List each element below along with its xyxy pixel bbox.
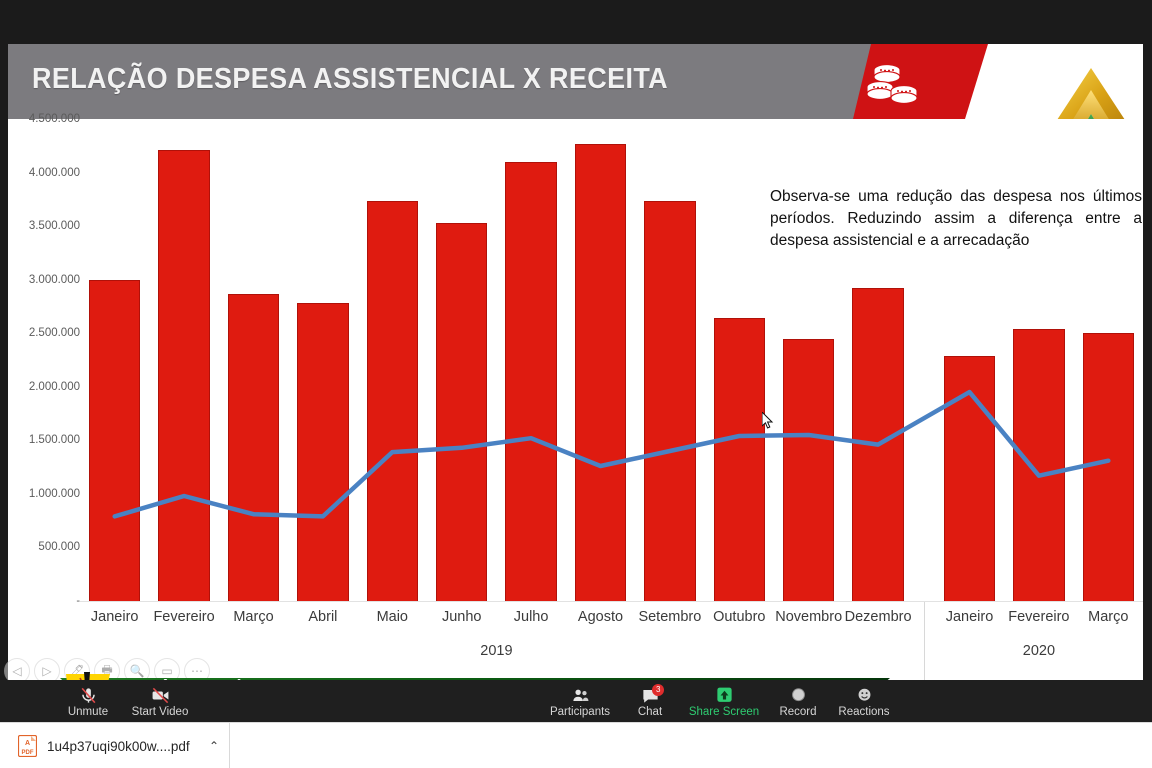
zoom-control-label: Start Video	[132, 706, 189, 718]
x-axis-year-label: 2019	[80, 643, 913, 659]
x-axis-label: Agosto	[566, 609, 635, 625]
bar-fevereiro	[158, 150, 209, 601]
smiley-face-icon	[809, 686, 919, 705]
x-axis-label: Março	[219, 609, 288, 625]
zoom-control-label: Unmute	[68, 706, 108, 718]
chevron-up-icon[interactable]: ⌃	[209, 739, 219, 753]
bar-janeiro	[89, 280, 140, 601]
zoom-control-bar: UnmuteStart VideoParticipants3ChatShare …	[0, 680, 1152, 722]
x-axis-label: Setembro	[635, 609, 704, 625]
bar-novembro	[783, 339, 834, 601]
y-axis-tick: 2.000.000	[14, 381, 80, 393]
bar-setembro	[644, 201, 695, 601]
bar-março	[228, 294, 279, 601]
x-axis-label: Janeiro	[935, 609, 1004, 625]
x-axis-label: Junho	[427, 609, 496, 625]
bar-março	[1083, 333, 1134, 601]
x-axis-label: Novembro	[774, 609, 843, 625]
start-video-button[interactable]: Start Video	[105, 686, 215, 718]
reactions-button[interactable]: Reactions	[809, 686, 919, 718]
bar-fevereiro	[1013, 329, 1064, 601]
slide-header: RELAÇÃO DESPESA ASSISTENCIAL X RECEITA	[8, 44, 1143, 119]
x-axis-label: Julho	[496, 609, 565, 625]
bar-abril	[297, 303, 348, 601]
year-group-separator	[924, 602, 925, 680]
mouse-cursor	[762, 412, 774, 430]
bar-janeiro	[944, 356, 995, 601]
svg-text:PDF: PDF	[22, 750, 34, 756]
y-axis-tick: 1.000.000	[14, 488, 80, 500]
x-axis-label: Março	[1074, 609, 1143, 625]
y-axis-tick: 4.000.000	[14, 167, 80, 179]
x-axis: JaneiroFevereiroMarçoAbrilMaioJunhoJulho…	[80, 601, 1143, 680]
video-camera-off-icon	[105, 686, 215, 705]
stacked-coins-icon	[863, 60, 923, 108]
gold-diamond-logo	[1043, 56, 1139, 119]
x-axis-label: Dezembro	[843, 609, 912, 625]
download-item[interactable]: A PDF 1u4p37uqi90k00w....pdf ⌃	[8, 723, 230, 768]
bar-maio	[367, 201, 418, 601]
x-axis-label: Fevereiro	[1004, 609, 1073, 625]
pdf-file-icon: A PDF	[18, 735, 37, 757]
zoom-control-label: Chat	[638, 706, 662, 718]
svg-text:A: A	[25, 740, 30, 747]
screen-share-region: RELAÇÃO DESPESA ASSISTENCIAL X RECEITA	[0, 0, 1152, 722]
notification-badge: 3	[652, 684, 664, 696]
y-axis-tick: 4.500.000	[14, 113, 80, 125]
y-axis-tick: -	[14, 595, 80, 607]
browser-download-bar: A PDF 1u4p37uqi90k00w....pdf ⌃	[0, 722, 1152, 768]
bar-julho	[505, 162, 556, 601]
zoom-control-label: Reactions	[838, 706, 889, 718]
y-axis-tick: 3.500.000	[14, 220, 80, 232]
pdf-slide-page: RELAÇÃO DESPESA ASSISTENCIAL X RECEITA	[8, 44, 1143, 680]
page-title: RELAÇÃO DESPESA ASSISTENCIAL X RECEITA	[32, 63, 668, 96]
x-axis-label: Outubro	[705, 609, 774, 625]
bar-agosto	[575, 144, 626, 601]
y-axis-tick: 3.000.000	[14, 274, 80, 286]
x-axis-label: Maio	[358, 609, 427, 625]
y-axis-tick: 500.000	[14, 541, 80, 553]
x-axis-label: Fevereiro	[149, 609, 218, 625]
y-axis: -500.0001.000.0001.500.0002.000.0002.500…	[8, 119, 80, 680]
bar-dezembro	[852, 288, 903, 601]
bar-junho	[436, 223, 487, 601]
y-axis-tick: 1.500.000	[14, 434, 80, 446]
x-axis-label: Abril	[288, 609, 357, 625]
chart-plot-area: -500.0001.000.0001.500.0002.000.0002.500…	[8, 119, 1143, 680]
download-file-name: 1u4p37uqi90k00w....pdf	[47, 739, 199, 754]
x-axis-label: Janeiro	[80, 609, 149, 625]
x-axis-year-label: 2020	[935, 643, 1143, 659]
y-axis-tick: 2.500.000	[14, 327, 80, 339]
annotation-text: Observa-se uma redução das despesa nos ú…	[770, 186, 1142, 252]
bar-outubro	[714, 318, 765, 601]
